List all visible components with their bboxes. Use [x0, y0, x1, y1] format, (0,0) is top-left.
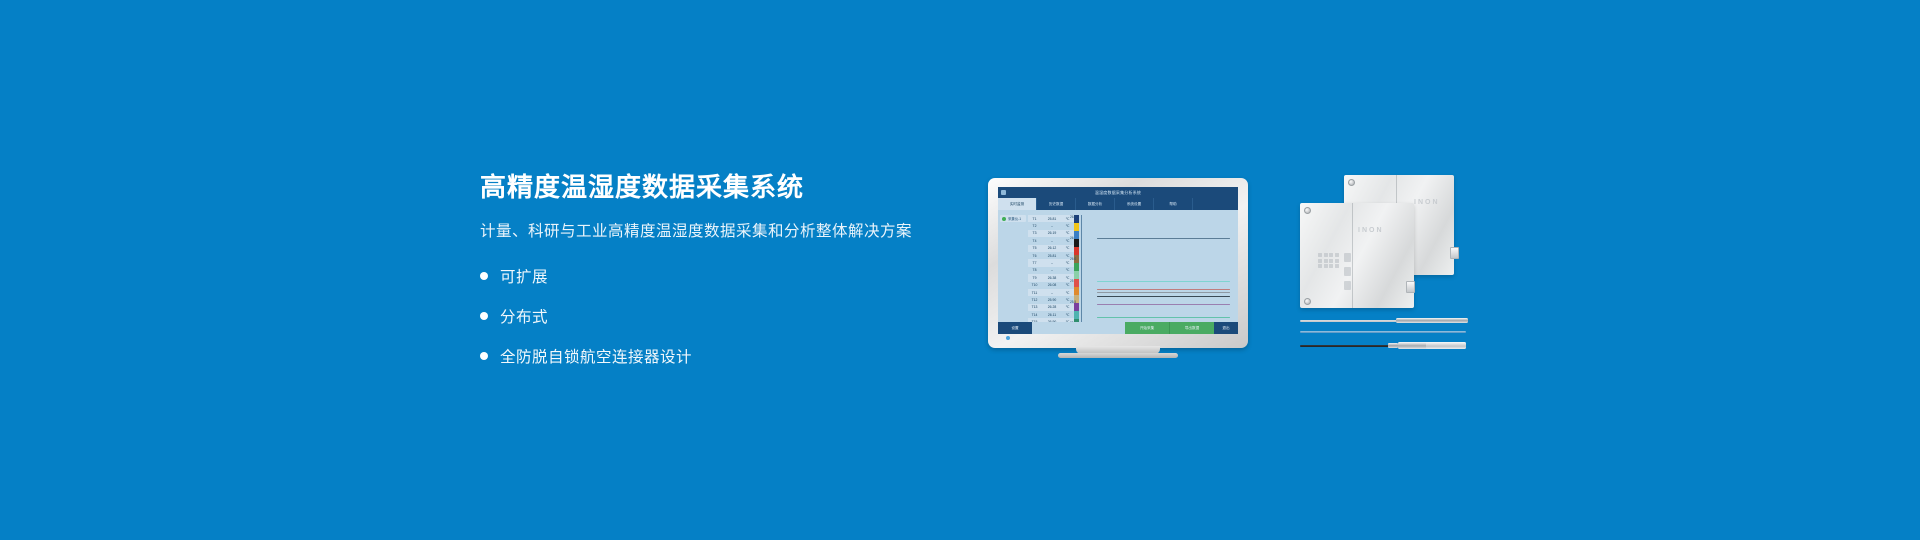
- channel-name: T8: [1028, 268, 1041, 272]
- channel-value: 25.81: [1041, 217, 1063, 221]
- port-grid: [1318, 253, 1339, 268]
- table-row[interactable]: T2--℃: [1028, 222, 1074, 229]
- legend-color-swatch: [1074, 223, 1079, 231]
- channel-table: T125.81℃T2--℃T326.19℃T4--℃T526.12℃T625.8…: [1028, 210, 1074, 334]
- brand-label: INON: [1358, 227, 1384, 234]
- tab-settings[interactable]: 系统设置: [1115, 198, 1154, 210]
- channel-name: T6: [1028, 254, 1041, 258]
- port-slot: [1344, 267, 1351, 276]
- legend-color-swatch: [1074, 287, 1079, 295]
- connector-barrel: [1398, 342, 1428, 349]
- marketing-copy: 高精度温湿度数据采集系统 计量、科研与工业高精度温湿度数据采集和分析整体解决方案…: [480, 172, 950, 385]
- channel-name: T1: [1028, 217, 1041, 221]
- channel-unit: ℃: [1063, 231, 1072, 235]
- channel-name: T11: [1028, 291, 1041, 295]
- table-row[interactable]: T11--℃: [1028, 289, 1074, 296]
- sidebar-item-device[interactable]: 采集仪-1: [1000, 215, 1026, 222]
- channel-value: 26.38: [1041, 276, 1063, 280]
- table-row[interactable]: T125.81℃: [1028, 215, 1074, 222]
- probe-body: [1396, 318, 1468, 323]
- cable-ferrule: [1388, 343, 1398, 348]
- port-cell: [1318, 264, 1322, 268]
- channel-value: --: [1041, 239, 1063, 243]
- channel-name: T10: [1028, 283, 1041, 287]
- chart-series-line: [1097, 304, 1229, 305]
- page-subtitle: 计量、科研与工业高精度温湿度数据采集和分析整体解决方案: [480, 219, 950, 241]
- channel-value: --: [1041, 268, 1063, 272]
- screw-icon: [1304, 298, 1311, 305]
- bullet-dot-icon: [480, 352, 488, 360]
- connector-port: [1450, 247, 1459, 259]
- app-titlebar: 温湿度数据采集分析系统: [998, 187, 1238, 198]
- table-row[interactable]: T8--℃: [1028, 267, 1074, 274]
- chart-series-line: [1097, 317, 1229, 318]
- settings-button[interactable]: 设置: [998, 322, 1032, 334]
- tab-realtime[interactable]: 实时监测: [998, 198, 1037, 210]
- port-cell: [1329, 259, 1333, 263]
- app-bottom-toolbar: 设置 开始采集 导出数据 退出: [998, 322, 1238, 334]
- channel-name: T5: [1028, 246, 1041, 250]
- table-row[interactable]: T326.19℃: [1028, 230, 1074, 237]
- legend-color-swatch: [1074, 303, 1079, 311]
- series-color-legend: [1074, 215, 1079, 334]
- acquisition-unit-front: INON: [1300, 203, 1414, 308]
- realtime-line-chart: 26.52626.02525.52510:20:0010:24:0010:28:…: [1081, 215, 1236, 334]
- table-row[interactable]: T4--℃: [1028, 237, 1074, 244]
- channel-value: 26.28: [1041, 305, 1063, 309]
- monitor-screen: 温湿度数据采集分析系统 实时监测 历史数据 数据分析 系统设置 帮助 采集仪-1: [998, 187, 1238, 334]
- chart-series-line: [1097, 281, 1229, 282]
- channel-unit: ℃: [1063, 261, 1072, 265]
- temperature-probe: [1300, 318, 1468, 323]
- y-axis-tick-label: 26: [1070, 236, 1074, 240]
- exit-button[interactable]: 退出: [1214, 322, 1238, 334]
- port-slot: [1344, 253, 1351, 262]
- power-led-icon: [1006, 336, 1010, 340]
- table-row[interactable]: T1225.90℃: [1028, 296, 1074, 303]
- chart-series-line: [1097, 296, 1229, 297]
- port-cell: [1318, 259, 1322, 263]
- port-cell: [1335, 259, 1339, 263]
- hardware-product-image: INON INON: [1300, 175, 1470, 360]
- table-row[interactable]: T1026.08℃: [1028, 282, 1074, 289]
- port-cell: [1324, 253, 1328, 257]
- table-row[interactable]: T1326.28℃: [1028, 304, 1074, 311]
- legend-color-swatch: [1074, 247, 1079, 255]
- port-cell: [1324, 264, 1328, 268]
- channel-value: --: [1041, 224, 1063, 228]
- monitor-foot: [1058, 353, 1178, 358]
- port-cell: [1324, 259, 1328, 263]
- feature-label: 全防脱自锁航空连接器设计: [500, 345, 692, 367]
- probe-shaft: [1300, 320, 1400, 323]
- table-row[interactable]: T1426.11℃: [1028, 311, 1074, 318]
- y-axis-tick-label: 26.0: [1070, 257, 1076, 261]
- list-item: 分布式: [480, 305, 950, 327]
- channel-value: 26.08: [1041, 283, 1063, 287]
- chart-series-line: [1097, 238, 1229, 239]
- list-item: 全防脱自锁航空连接器设计: [480, 345, 950, 367]
- page-title: 高精度温湿度数据采集系统: [480, 172, 950, 203]
- app-logo-icon: [1001, 190, 1006, 195]
- channel-name: T4: [1028, 239, 1041, 243]
- channel-unit: ℃: [1063, 268, 1072, 272]
- channel-value: 26.12: [1041, 246, 1063, 250]
- box-seam: [1352, 203, 1353, 308]
- legend-color-swatch: [1074, 239, 1079, 247]
- table-row[interactable]: T7--℃: [1028, 259, 1074, 266]
- chart-series-line: [1097, 292, 1229, 293]
- blue-cable: [1300, 331, 1466, 333]
- aviation-connector-cable: [1300, 342, 1470, 349]
- tab-history[interactable]: 历史数据: [1037, 198, 1076, 210]
- legend-color-swatch: [1074, 231, 1079, 239]
- screw-icon: [1348, 179, 1355, 186]
- channel-unit: ℃: [1063, 291, 1072, 295]
- channel-value: 25.90: [1041, 298, 1063, 302]
- y-axis-tick-label: 25: [1070, 279, 1074, 283]
- channel-name: T12: [1028, 298, 1041, 302]
- channel-value: --: [1041, 261, 1063, 265]
- app-workspace: 采集仪-1 T125.81℃T2--℃T326.19℃T4--℃T526.12℃…: [998, 210, 1238, 334]
- tab-help[interactable]: 帮助: [1154, 198, 1193, 210]
- feature-label: 分布式: [500, 305, 548, 327]
- legend-color-swatch: [1074, 263, 1079, 271]
- channel-name: T2: [1028, 224, 1041, 228]
- start-acquisition-button[interactable]: 开始采集: [1125, 322, 1169, 334]
- channel-name: T13: [1028, 305, 1041, 309]
- table-row[interactable]: T526.12℃: [1028, 245, 1074, 252]
- product-banner: 高精度温湿度数据采集系统 计量、科研与工业高精度温湿度数据采集和分析整体解决方案…: [0, 0, 1920, 540]
- bullet-dot-icon: [480, 272, 488, 280]
- channel-name: T7: [1028, 261, 1041, 265]
- table-row[interactable]: T625.81℃: [1028, 252, 1074, 259]
- port-cell: [1335, 264, 1339, 268]
- connector-port: [1406, 281, 1415, 293]
- monitor-bezel: 温湿度数据采集分析系统 实时监测 历史数据 数据分析 系统设置 帮助 采集仪-1: [988, 178, 1248, 348]
- channel-unit: ℃: [1063, 305, 1072, 309]
- channel-unit: ℃: [1063, 246, 1072, 250]
- legend-color-swatch: [1074, 279, 1079, 287]
- monitor-product-image: 温湿度数据采集分析系统 实时监测 历史数据 数据分析 系统设置 帮助 采集仪-1: [988, 178, 1248, 360]
- list-item: 可扩展: [480, 265, 950, 287]
- brand-label: INON: [1414, 199, 1440, 206]
- feature-list: 可扩展 分布式 全防脱自锁航空连接器设计: [480, 265, 950, 367]
- bullet-dot-icon: [480, 312, 488, 320]
- port-slot: [1344, 281, 1351, 290]
- app-title: 温湿度数据采集分析系统: [1095, 190, 1141, 196]
- channel-unit: ℃: [1063, 283, 1072, 287]
- cable-sheath: [1300, 345, 1390, 348]
- feature-label: 可扩展: [500, 265, 548, 287]
- channel-value: 26.19: [1041, 231, 1063, 235]
- port-cell: [1335, 253, 1339, 257]
- export-data-button[interactable]: 导出数据: [1169, 322, 1214, 334]
- port-cell: [1318, 253, 1322, 257]
- channel-name: T9: [1028, 276, 1041, 280]
- status-led-icon: [1002, 217, 1006, 221]
- channel-name: T14: [1028, 313, 1041, 317]
- y-axis-tick-label: 25.5: [1070, 300, 1076, 304]
- channel-value: --: [1041, 291, 1063, 295]
- legend-color-swatch: [1074, 271, 1079, 279]
- screw-icon: [1304, 207, 1311, 214]
- channel-unit: ℃: [1063, 224, 1072, 228]
- legend-color-swatch: [1074, 311, 1079, 319]
- sidebar-item-label: 采集仪-1: [1008, 216, 1021, 221]
- toolbar-spacer: [1032, 322, 1125, 334]
- chart-series-line: [1097, 289, 1229, 290]
- channel-value: 25.81: [1041, 254, 1063, 258]
- y-axis-tick-label: 26.5: [1070, 215, 1076, 219]
- port-cell: [1329, 264, 1333, 268]
- channel-value: 26.11: [1041, 313, 1063, 317]
- channel-unit: ℃: [1063, 313, 1072, 317]
- channel-name: T3: [1028, 231, 1041, 235]
- app-tabbar: 实时监测 历史数据 数据分析 系统设置 帮助: [998, 198, 1238, 210]
- port-cell: [1329, 253, 1333, 257]
- device-sidebar: 采集仪-1: [998, 210, 1028, 334]
- tab-analysis[interactable]: 数据分析: [1076, 198, 1115, 210]
- connector-head: [1426, 342, 1466, 349]
- table-row[interactable]: T926.38℃: [1028, 274, 1074, 281]
